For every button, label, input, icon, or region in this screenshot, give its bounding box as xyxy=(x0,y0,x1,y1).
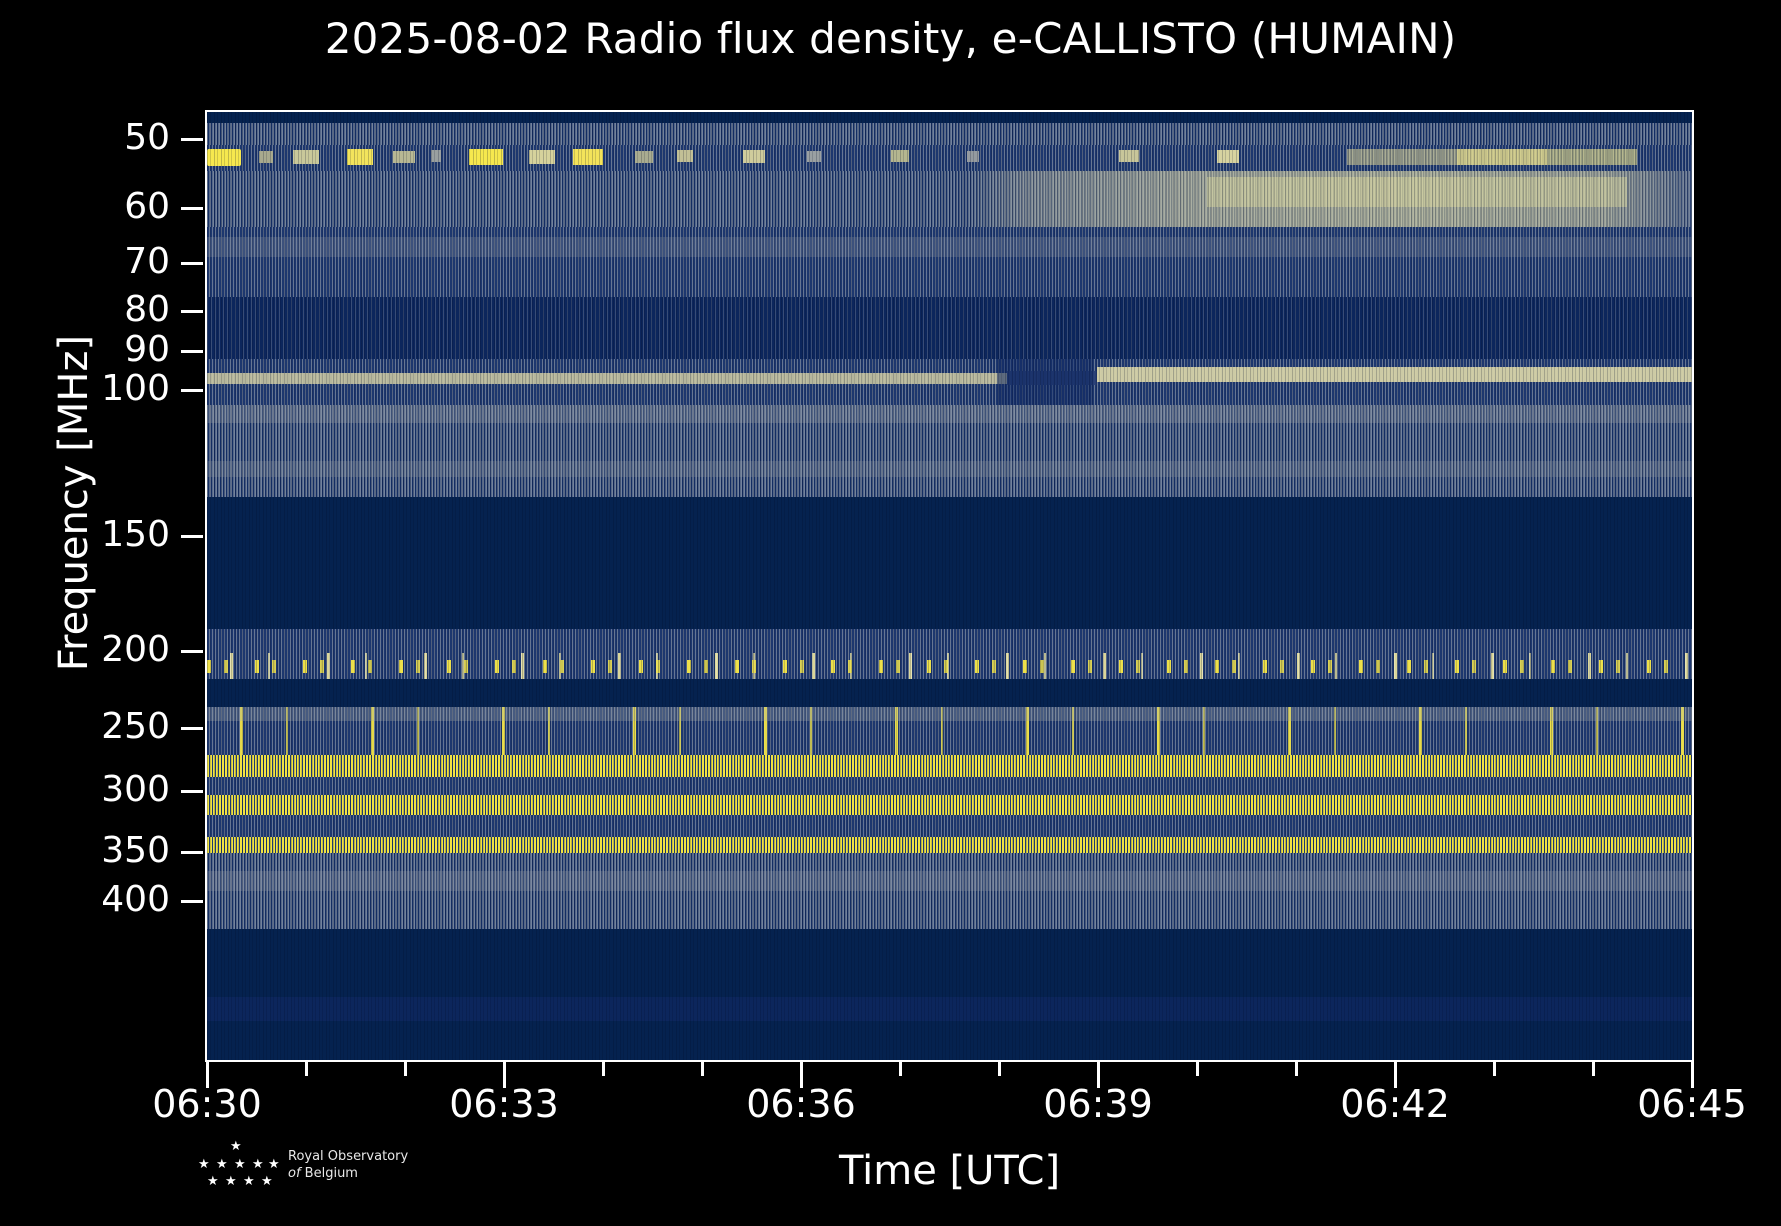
y-tick-label: 90 xyxy=(104,332,170,368)
band-yellow-155 xyxy=(207,755,1692,777)
y-tick-label: 60 xyxy=(104,189,170,225)
band-noise-58 xyxy=(207,227,1692,297)
band-noise-200 xyxy=(207,853,1692,929)
logo-text: Royal Observatory of Belgium xyxy=(288,1148,408,1182)
y-tick-mark xyxy=(181,138,203,141)
logo-of: of xyxy=(288,1166,301,1181)
band-spikes-146 xyxy=(207,707,1692,755)
band-yellow-183 xyxy=(207,837,1692,853)
band-quiet-top xyxy=(207,112,1692,123)
band-noise-122 xyxy=(207,629,1692,653)
y-tick-mark xyxy=(181,535,203,538)
x-tick-mark-minor xyxy=(701,1062,704,1076)
logo-line-2: of Belgium xyxy=(288,1165,408,1182)
x-tick-mark-minor xyxy=(1196,1062,1199,1076)
logo-belgium: Belgium xyxy=(305,1166,358,1181)
y-tick-mark xyxy=(181,650,203,653)
y-tick-label: 80 xyxy=(104,292,170,328)
logo-line-1: Royal Observatory xyxy=(288,1148,408,1165)
band-noise-248 xyxy=(207,997,1692,1021)
y-tick-mark xyxy=(181,262,203,265)
spectrogram-image xyxy=(207,112,1692,1060)
band-noise-163 xyxy=(207,777,1692,795)
x-tick-mark-minor xyxy=(404,1062,407,1076)
band-quiet-135 xyxy=(207,679,1692,707)
y-tick-label: 70 xyxy=(104,244,170,280)
band-rfi-128 xyxy=(207,653,1692,679)
y-tick-mark xyxy=(181,851,203,854)
band-noise-64 xyxy=(207,297,1692,359)
y-tick-label: 50 xyxy=(104,120,170,156)
band-noise-48 xyxy=(207,123,1692,145)
x-tick-label: 06:30 xyxy=(152,1084,262,1124)
y-tick-mark xyxy=(181,389,203,392)
band-burst-50 xyxy=(207,145,1692,171)
x-tick-label: 06:36 xyxy=(746,1084,856,1124)
royal-observatory-logo: ★ ★ ★ ★ ★ ★ ★ ★ ★ ★ Royal Observatory of… xyxy=(196,1140,408,1190)
x-tick-label: 06:45 xyxy=(1637,1084,1747,1124)
x-tick-mark-minor xyxy=(998,1062,1001,1076)
y-tick-mark xyxy=(181,310,203,313)
x-axis-label: Time [UTC] xyxy=(207,1148,1692,1194)
band-quiet-230 xyxy=(207,929,1692,997)
band-noise-53 xyxy=(207,171,1692,227)
band-quiet-262 xyxy=(207,1021,1692,1060)
band-noise-78 xyxy=(207,405,1692,497)
y-tick-mark xyxy=(181,900,203,903)
y-tick-mark xyxy=(181,207,203,210)
eu-stars-icon: ★ ★ ★ ★ ★ ★ ★ ★ ★ ★ xyxy=(196,1140,278,1190)
x-tick-mark-minor xyxy=(1493,1062,1496,1076)
x-tick-label: 06:42 xyxy=(1340,1084,1450,1124)
y-tick-label: 350 xyxy=(66,833,170,869)
band-noise-176 xyxy=(207,815,1692,837)
x-tick-label: 06:33 xyxy=(449,1084,559,1124)
band-pale-70 xyxy=(207,359,1692,405)
band-yellow-168 xyxy=(207,795,1692,815)
x-tick-mark-minor xyxy=(305,1062,308,1076)
x-tick-mark-minor xyxy=(602,1062,605,1076)
page-title: 2025-08-02 Radio flux density, e-CALLIST… xyxy=(0,14,1781,63)
y-axis-label: Frequency [MHz] xyxy=(51,193,97,813)
x-tick-mark-minor xyxy=(1295,1062,1298,1076)
y-tick-mark xyxy=(181,790,203,793)
y-tick-label: 400 xyxy=(66,882,170,918)
figure-root: 2025-08-02 Radio flux density, e-CALLIST… xyxy=(0,0,1781,1226)
y-tick-mark xyxy=(181,350,203,353)
x-tick-mark-minor xyxy=(899,1062,902,1076)
x-tick-mark-minor xyxy=(1592,1062,1595,1076)
band-quiet-fm xyxy=(207,497,1692,629)
x-tick-label: 06:39 xyxy=(1043,1084,1153,1124)
y-tick-mark xyxy=(181,727,203,730)
